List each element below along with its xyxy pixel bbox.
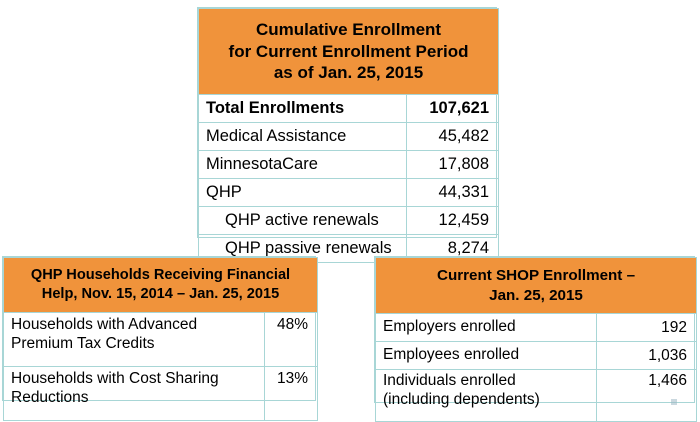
row-value-cost-sharing-reductions: 13% — [265, 367, 318, 421]
row-value-minnesotacare: 17,808 — [407, 151, 499, 179]
row-value-total-enrollments: 107,621 — [407, 95, 499, 123]
title-line-1: Current SHOP Enrollment – — [382, 266, 690, 285]
qhp-households-grid: QHP Households Receiving Financial Help,… — [3, 257, 318, 421]
table-row: Medical Assistance 45,482 — [199, 123, 499, 151]
label-line-1: Households with Advanced — [11, 316, 197, 333]
row-value-qhp: 44,331 — [407, 179, 499, 207]
label-line-1: Households with Cost Sharing — [11, 370, 219, 387]
qhp-households-financial-help-table: QHP Households Receiving Financial Help,… — [2, 256, 316, 401]
row-label-employees-enrolled: Employees enrolled — [376, 342, 597, 370]
table-row: Total Enrollments 107,621 — [199, 95, 499, 123]
table-header-row: QHP Households Receiving Financial Help,… — [4, 258, 318, 313]
row-value-qhp-active-renewals: 12,459 — [407, 207, 499, 235]
row-label-individuals-enrolled: Individuals enrolled (including dependen… — [376, 370, 597, 422]
row-value-employees-enrolled: 1,036 — [597, 342, 697, 370]
table-row: Employees enrolled 1,036 — [376, 342, 697, 370]
qhp-households-title: QHP Households Receiving Financial Help,… — [4, 258, 318, 313]
row-label-qhp: QHP — [199, 179, 407, 207]
table-row: MinnesotaCare 17,808 — [199, 151, 499, 179]
row-label-employers-enrolled: Employers enrolled — [376, 314, 597, 342]
row-label-medical-assistance: Medical Assistance — [199, 123, 407, 151]
table-header-row: Cumulative Enrollment for Current Enroll… — [199, 9, 499, 95]
row-label-qhp-active-renewals: QHP active renewals — [199, 207, 407, 235]
row-value-employers-enrolled: 192 — [597, 314, 697, 342]
title-line-1: Cumulative Enrollment — [205, 19, 492, 41]
cumulative-enrollment-table: Cumulative Enrollment for Current Enroll… — [197, 7, 497, 238]
table-row: Employers enrolled 192 — [376, 314, 697, 342]
label-line-2: Premium Tax Credits — [11, 335, 155, 352]
table-row: Households with Cost Sharing Reductions … — [4, 367, 318, 421]
table-row: Households with Advanced Premium Tax Cre… — [4, 313, 318, 367]
title-line-3: as of Jan. 25, 2015 — [205, 62, 492, 84]
current-shop-grid: Current SHOP Enrollment – Jan. 25, 2015 … — [375, 257, 697, 422]
table-row: Individuals enrolled (including dependen… — [376, 370, 697, 422]
current-shop-enrollment-table: Current SHOP Enrollment – Jan. 25, 2015 … — [374, 256, 695, 403]
row-label-cost-sharing-reductions: Households with Cost Sharing Reductions — [4, 367, 265, 421]
label-line-2: (including dependents) — [383, 391, 592, 410]
row-value-medical-assistance: 45,482 — [407, 123, 499, 151]
row-label-minnesotacare: MinnesotaCare — [199, 151, 407, 179]
row-label-advanced-premium-tax-credits: Households with Advanced Premium Tax Cre… — [4, 313, 265, 367]
cumulative-enrollment-title: Cumulative Enrollment for Current Enroll… — [199, 9, 499, 95]
row-label-total-enrollments: Total Enrollments — [199, 95, 407, 123]
table-header-row: Current SHOP Enrollment – Jan. 25, 2015 — [376, 258, 697, 314]
row-value-advanced-premium-tax-credits: 48% — [265, 313, 318, 367]
current-shop-title: Current SHOP Enrollment – Jan. 25, 2015 — [376, 258, 697, 314]
label-line-1: Individuals enrolled — [383, 372, 592, 391]
title-line-2: Jan. 25, 2015 — [382, 286, 690, 305]
table-row: QHP 44,331 — [199, 179, 499, 207]
row-value-individuals-enrolled: 1,466 — [597, 370, 697, 422]
title-line-1: QHP Households Receiving Financial — [10, 266, 311, 285]
cumulative-enrollment-grid: Cumulative Enrollment for Current Enroll… — [198, 8, 499, 263]
label-line-2: Reductions — [11, 389, 89, 406]
selection-handle-artifact — [671, 399, 677, 405]
title-line-2: Help, Nov. 15, 2014 – Jan. 25, 2015 — [10, 285, 311, 304]
table-row: QHP active renewals 12,459 — [199, 207, 499, 235]
title-line-2: for Current Enrollment Period — [205, 41, 492, 63]
